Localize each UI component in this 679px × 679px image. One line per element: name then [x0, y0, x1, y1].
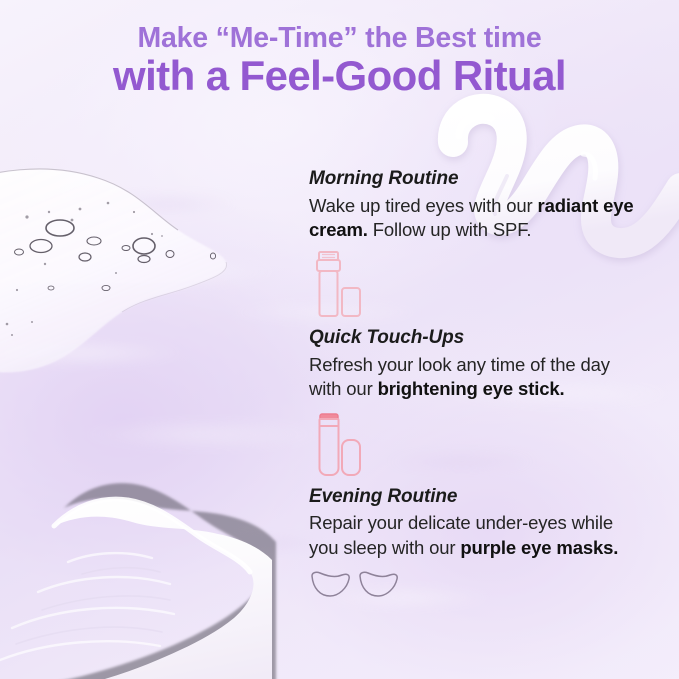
gel-blob-decoration	[0, 152, 230, 384]
infographic-canvas: Make “Me-Time” the Best time with a Feel…	[0, 0, 679, 679]
routine-body-quick-part-2: brightening eye stick.	[378, 378, 565, 399]
eye-mask-patches-icon	[309, 570, 639, 610]
routine-body-evening: Repair your delicate under-eyes while yo…	[309, 511, 639, 559]
routine-body-morning-part-3: Follow up with SPF.	[368, 219, 532, 240]
routine-title-morning: Morning Routine	[309, 168, 639, 190]
routine-block-morning: Morning Routine Wake up tired eyes with …	[309, 168, 639, 322]
routine-title-evening: Evening Routine	[309, 486, 639, 508]
routine-block-quick-touchups: Quick Touch-Ups Refresh your look any ti…	[309, 327, 639, 481]
routine-body-morning: Wake up tired eyes with our radiant eye …	[309, 194, 639, 242]
headline-line-2: with a Feel-Good Ritual	[0, 55, 679, 97]
routine-title-quick-touchups: Quick Touch-Ups	[309, 327, 639, 349]
eye-stick-icon	[309, 410, 639, 482]
page-title: Make “Me-Time” the Best time with a Feel…	[0, 24, 679, 97]
routine-block-evening: Evening Routine Repair your delicate und…	[309, 486, 639, 610]
routine-body-morning-part-1: Wake up tired eyes with our	[309, 195, 538, 216]
cream-dollop-decoration	[0, 452, 272, 679]
routine-body-quick-touchups: Refresh your look any time of the day wi…	[309, 353, 639, 401]
routine-list: Morning Routine Wake up tired eyes with …	[309, 168, 639, 610]
headline-line-1: Make “Me-Time” the Best time	[0, 24, 679, 53]
pump-bottle-icon	[309, 250, 639, 322]
routine-body-evening-part-2: purple eye masks.	[460, 537, 618, 558]
